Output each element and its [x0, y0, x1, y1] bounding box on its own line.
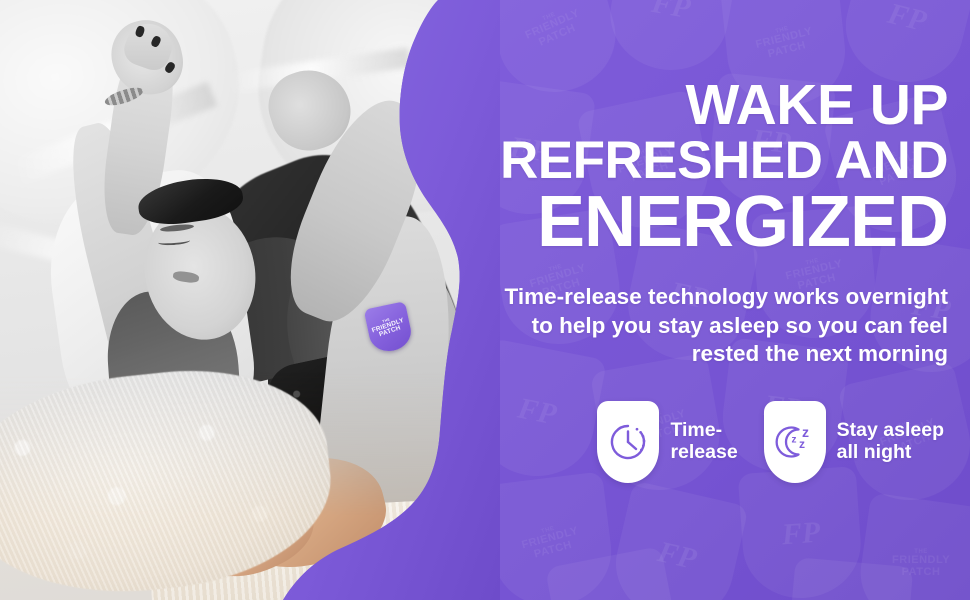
badge-shield-backdrop: z z z: [764, 401, 826, 483]
headline-line-3: ENERGIZED: [480, 188, 948, 257]
badge-shield-backdrop: [597, 401, 659, 483]
headline-line-1: WAKE UP: [480, 78, 948, 133]
text-panel: WAKE UP REFRESHED AND ENERGIZED Time-rel…: [470, 0, 970, 600]
badge-stay-asleep: z z z Stay asleep all night: [764, 401, 944, 483]
headline-block: WAKE UP REFRESHED AND ENERGIZED: [480, 78, 948, 257]
photo-scene: [0, 0, 500, 600]
lifestyle-photo: THEFRIENDLYPATCH: [0, 0, 500, 600]
clock-icon: [608, 422, 648, 462]
zzz-small: z: [791, 435, 796, 446]
badge-label-stay-asleep: Stay asleep all night: [837, 420, 944, 464]
badge-time-release: Time- release: [597, 401, 737, 483]
body-paragraph: Time-release technology works overnight …: [480, 283, 948, 369]
feature-badges: Time- release z z z Stay asleep all nigh…: [597, 401, 944, 483]
zzz-large: z: [802, 424, 809, 440]
headline-line-2: REFRESHED AND: [480, 136, 948, 187]
lower-bedding-region: [0, 330, 500, 600]
moon-zzz-icon: z z z: [774, 422, 816, 462]
badge-label-time-release: Time- release: [670, 420, 737, 464]
product-patch-label: THEFRIENDLYPATCH: [370, 314, 407, 341]
promo-banner: THEFRIENDLYPATCH FP THEFRIENDLYPATCH FP …: [0, 0, 970, 600]
